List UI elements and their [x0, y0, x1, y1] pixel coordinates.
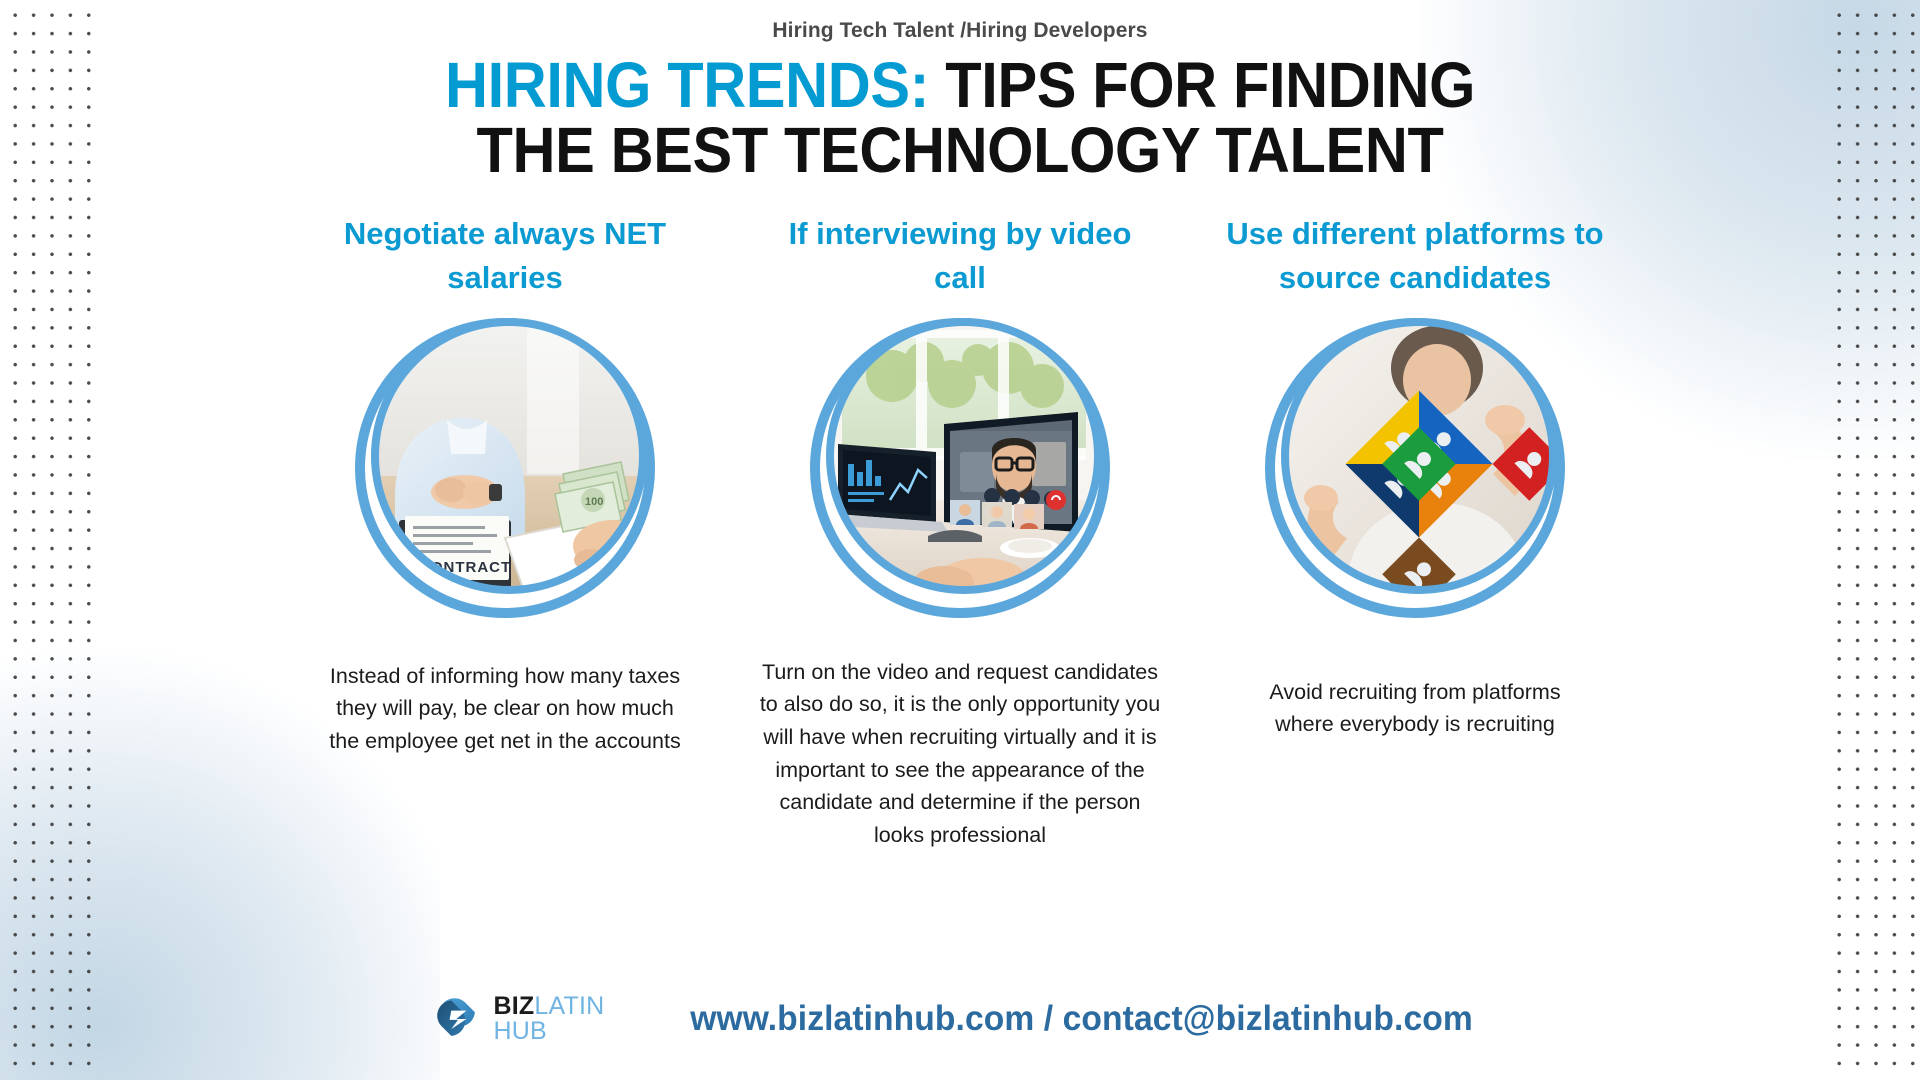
tip-title: If interviewing by video call [760, 212, 1160, 300]
eyebrow-breadcrumb: Hiring Tech Talent /Hiring Developers [0, 18, 1920, 43]
tip-body: Avoid recruiting from platforms where ev… [1265, 676, 1565, 741]
poster-header: Hiring Tech Talent /Hiring Developers HI… [0, 0, 1920, 184]
brand-wordmark: BIZLATIN HUB [494, 994, 605, 1044]
tip-body: Turn on the video and request candidates… [758, 656, 1163, 852]
logo-text-latin: LATIN [534, 992, 604, 1020]
tip-title: Negotiate always NET salaries [325, 212, 685, 300]
brand-logo[interactable]: BIZLATIN HUB [431, 992, 605, 1046]
logo-text-biz: BIZ [494, 992, 535, 1020]
biz-latin-hub-logo-icon [431, 992, 485, 1046]
image-ring-inner [826, 318, 1102, 594]
tips-columns: Negotiate always NET salaries [0, 212, 1920, 852]
tip-column-video-call-interview: If interviewing by video call [733, 212, 1188, 852]
footer-contact-url[interactable]: www.bizlatinhub.com / contact@bizlatinhu… [691, 999, 1474, 1039]
tip-image-frame [1265, 318, 1565, 618]
tip-image-frame: CONTRACT 100 [355, 318, 655, 618]
image-ring-inner [1281, 318, 1557, 594]
tip-column-source-platforms: Use different platforms to source candid… [1188, 212, 1643, 741]
tip-image-frame [810, 318, 1110, 618]
image-ring-inner [371, 318, 647, 594]
page-title: HIRING TRENDS: TIPS FOR FINDING THE BEST… [425, 53, 1495, 184]
tip-column-negotiate-net-salaries: Negotiate always NET salaries [278, 212, 733, 758]
tip-body: Instead of informing how many taxes they… [320, 660, 690, 758]
logo-text-hub: HUB [494, 1019, 605, 1044]
page-title-accent: HIRING TRENDS: [445, 49, 929, 121]
poster-footer: BIZLATIN HUB www.bizlatinhub.com / conta… [0, 992, 1920, 1046]
infographic-poster: Hiring Tech Talent /Hiring Developers HI… [0, 0, 1920, 1080]
tip-title: Use different platforms to source candid… [1200, 212, 1630, 300]
